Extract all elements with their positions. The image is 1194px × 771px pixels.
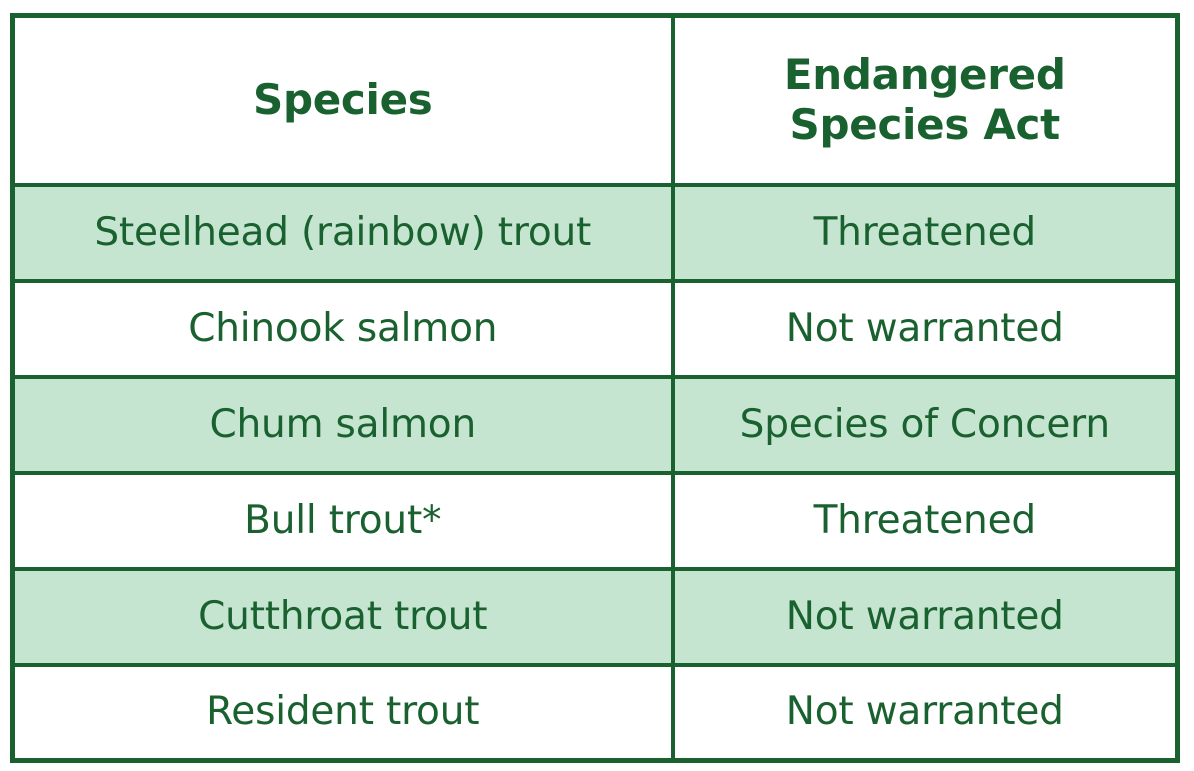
table-body: Steelhead (rainbow) trout Threatened Chi… xyxy=(13,185,1178,761)
cell-status: Threatened xyxy=(673,185,1178,281)
cell-species: Steelhead (rainbow) trout xyxy=(13,185,673,281)
cell-status: Not warranted xyxy=(673,281,1178,377)
species-status-table: Species Endangered Species Act Steelhead… xyxy=(10,13,1180,763)
column-header-species: Species xyxy=(13,16,673,185)
column-header-status-line-1: Endangered xyxy=(685,50,1166,100)
cell-species: Chinook salmon xyxy=(13,281,673,377)
species-status-table-container: Species Endangered Species Act Steelhead… xyxy=(10,13,1180,760)
cell-species: Cutthroat trout xyxy=(13,569,673,665)
table-row: Chinook salmon Not warranted xyxy=(13,281,1178,377)
cell-species: Bull trout* xyxy=(13,473,673,569)
table-header: Species Endangered Species Act xyxy=(13,16,1178,185)
cell-species: Resident trout xyxy=(13,665,673,761)
table-row: Cutthroat trout Not warranted xyxy=(13,569,1178,665)
cell-status: Not warranted xyxy=(673,569,1178,665)
table-row: Chum salmon Species of Concern xyxy=(13,377,1178,473)
cell-status: Species of Concern xyxy=(673,377,1178,473)
column-header-status-line-2: Species Act xyxy=(685,100,1166,150)
column-header-species-label: Species xyxy=(25,75,661,125)
table-row: Steelhead (rainbow) trout Threatened xyxy=(13,185,1178,281)
table-row: Bull trout* Threatened xyxy=(13,473,1178,569)
table-row: Resident trout Not warranted xyxy=(13,665,1178,761)
column-header-endangered-species-act: Endangered Species Act xyxy=(673,16,1178,185)
cell-status: Threatened xyxy=(673,473,1178,569)
header-row: Species Endangered Species Act xyxy=(13,16,1178,185)
cell-status: Not warranted xyxy=(673,665,1178,761)
cell-species: Chum salmon xyxy=(13,377,673,473)
